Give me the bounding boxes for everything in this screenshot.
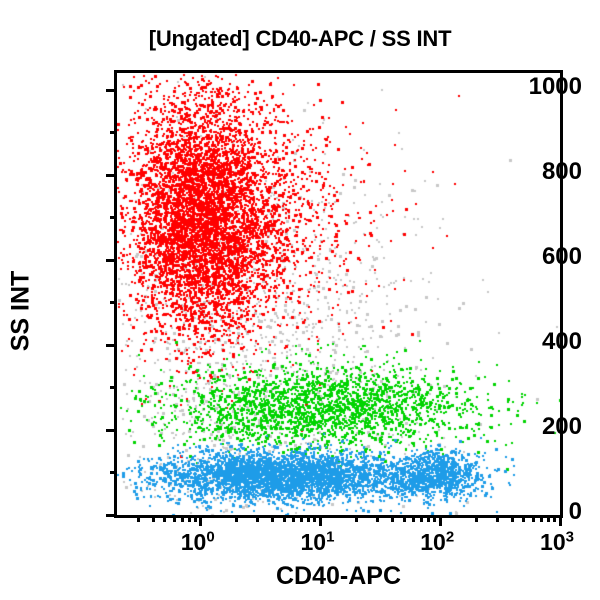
x-tick-minor [427,515,430,522]
x-tick-minor [553,515,556,522]
y-tick-minor [110,131,117,134]
x-tick-major [439,515,442,526]
y-axis-label: SS INT [7,271,36,352]
x-tick-minor [496,515,499,522]
x-tick-minor [235,515,238,522]
x-tick-minor [163,515,166,522]
y-tick-major [106,174,117,177]
x-tick-minor [522,515,525,522]
x-tick-major [199,515,202,526]
x-tick-minor [307,515,310,522]
x-tick-minor [292,515,295,522]
x-tick-minor [271,515,274,522]
y-tick-label: 600 [542,243,582,271]
x-tick-minor [188,515,191,522]
y-axis-label-container: SS INT [4,294,38,328]
y-tick-major [106,514,117,517]
x-tick-label: 101 [301,529,335,556]
x-tick-minor [532,515,535,522]
x-tick-minor [475,515,478,522]
x-tick-minor [152,515,155,522]
x-tick-minor [173,515,176,522]
y-tick-major [106,429,117,432]
x-tick-major [559,515,562,526]
x-tick-minor [283,515,286,522]
flow-cytometry-scatter-figure: [Ungated] CD40-APC / SS INT SS INT CD40-… [0,0,600,600]
y-tick-minor [110,301,117,304]
x-axis-label: CD40-APC [114,562,563,591]
y-tick-label: 200 [542,413,582,441]
y-tick-major [106,259,117,262]
x-axis-ticks [117,73,560,515]
x-tick-minor [137,515,140,522]
x-tick-minor [540,515,543,522]
x-tick-minor [376,515,379,522]
x-tick-label: 102 [420,529,454,556]
x-tick-minor [547,515,550,522]
x-tick-minor [300,515,303,522]
x-tick-minor [420,515,423,522]
y-tick-minor [110,471,117,474]
page-title: [Ungated] CD40-APC / SS INT [0,26,600,52]
y-tick-major [106,89,117,92]
y-tick-label: 800 [542,158,582,186]
x-tick-minor [391,515,394,522]
y-tick-major [106,344,117,347]
y-tick-minor [110,386,117,389]
y-tick-label: 400 [542,328,582,356]
x-tick-minor [256,515,259,522]
x-tick-label: 100 [181,529,215,556]
x-tick-minor [511,515,514,522]
y-tick-minor [110,216,117,219]
x-tick-minor [194,515,197,522]
y-tick-label: 1000 [529,73,582,101]
y-tick-label: 0 [569,498,582,526]
x-tick-minor [433,515,436,522]
x-tick-minor [412,515,415,522]
plot-area [114,70,563,518]
x-tick-minor [181,515,184,522]
x-tick-label: 103 [540,529,574,556]
x-tick-major [319,515,322,526]
x-tick-minor [313,515,316,522]
x-tick-minor [355,515,358,522]
x-tick-minor [403,515,406,522]
